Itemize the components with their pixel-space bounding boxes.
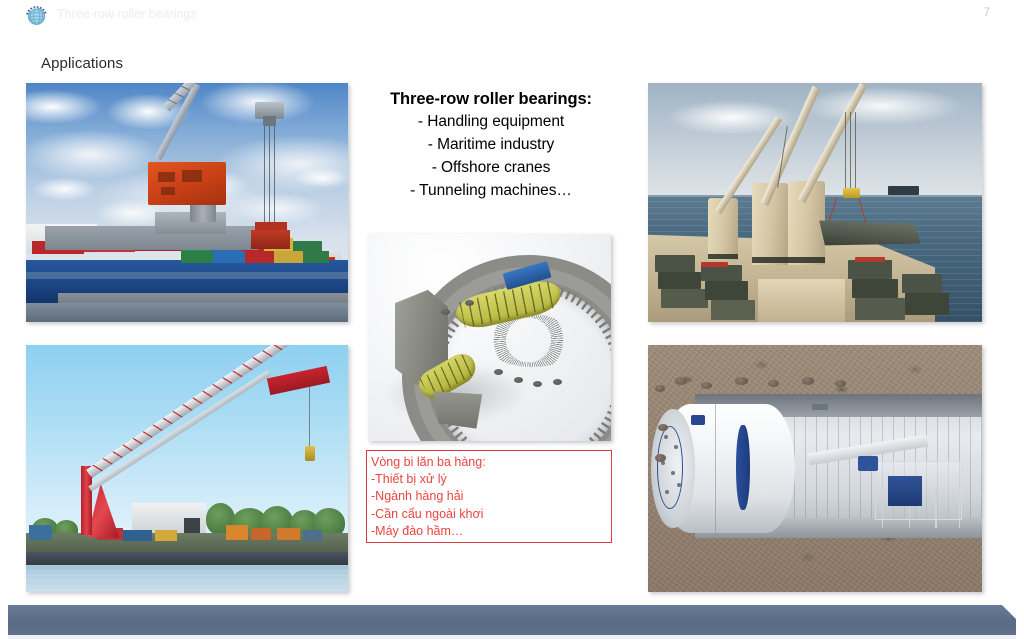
equipment-module xyxy=(888,476,921,506)
port-crane-artwork xyxy=(26,83,348,322)
blue-marker xyxy=(691,415,706,425)
crane-hook xyxy=(305,446,315,461)
tbm-render xyxy=(648,345,982,592)
deck-house xyxy=(758,279,845,322)
deck-container xyxy=(852,279,899,298)
hoist-wire xyxy=(850,112,851,188)
deck-container xyxy=(658,272,701,289)
translation-box: Vòng bi lăn ba hàng: -Thiết bị xử lý -Ng… xyxy=(366,450,612,543)
yard-equipment xyxy=(226,525,249,540)
hull-rail xyxy=(26,272,348,280)
bolt-hole xyxy=(553,379,562,385)
equipment-module xyxy=(858,456,878,471)
container xyxy=(181,251,213,263)
hoist-wire xyxy=(845,112,846,188)
translation-line-4: -Cần cẩu ngoài khơi xyxy=(371,506,611,523)
yard-equipment xyxy=(29,525,52,540)
deck-container xyxy=(848,260,891,279)
distant-ship xyxy=(888,186,918,196)
container xyxy=(245,251,274,263)
crane-hook xyxy=(843,188,860,198)
container xyxy=(213,251,245,263)
deck-container xyxy=(701,265,741,282)
floating-crane-artwork xyxy=(26,345,348,592)
lifted-container xyxy=(251,230,290,249)
bearing-cad-render xyxy=(368,234,611,441)
cutter-arc xyxy=(657,426,684,509)
bolt-hole xyxy=(441,309,450,315)
muck-pile xyxy=(655,454,666,462)
cutter-disc xyxy=(677,483,681,487)
deck-container xyxy=(705,281,748,300)
muck-pile xyxy=(675,377,687,385)
title-block: Three-row roller bearings: - Handling eq… xyxy=(366,88,616,202)
yard-equipment xyxy=(251,528,270,540)
hoist-cable xyxy=(309,387,310,451)
red-lashing xyxy=(855,257,885,262)
globe-icon xyxy=(24,3,49,28)
cutter-disc xyxy=(674,445,678,449)
muck-pile xyxy=(655,385,665,392)
water-ripples xyxy=(26,565,348,592)
blue-stripe xyxy=(736,425,749,510)
footer-shading xyxy=(8,624,1016,635)
port-crane-photo xyxy=(26,83,348,322)
offshore-vessel-artwork xyxy=(648,83,982,322)
title-bullet-1: - Handling equipment xyxy=(366,110,616,133)
muck-pile xyxy=(835,380,846,387)
bolt-hole xyxy=(494,369,503,375)
yard-equipment xyxy=(303,530,322,541)
deck-container xyxy=(902,274,942,293)
hoist-cable xyxy=(274,126,275,226)
floating-crane-photo xyxy=(26,345,348,592)
harbour-water xyxy=(26,303,348,322)
slew-ring xyxy=(752,257,789,263)
spreader-beam xyxy=(255,222,287,230)
ship-deck xyxy=(45,226,258,250)
cab-window xyxy=(161,187,175,195)
footer-title: Three-row roller bearings xyxy=(57,7,197,21)
translation-line-1: Vòng bi lăn ba hàng: xyxy=(371,454,611,471)
translation-line-5: -Máy đào hầm… xyxy=(371,523,611,540)
slide-canvas: Applications xyxy=(0,0,1024,639)
hoist-wire xyxy=(855,112,856,188)
yard-equipment xyxy=(123,530,152,541)
slew-ring xyxy=(708,254,738,258)
muck-pile xyxy=(658,424,668,431)
mounting-foot xyxy=(434,391,483,428)
tbm-artwork xyxy=(648,345,982,592)
deck-container xyxy=(655,255,695,272)
shield-seam xyxy=(715,404,717,532)
translation-line-2: -Thiết bị xử lý xyxy=(371,471,611,488)
gantry-leg xyxy=(882,488,884,528)
hoist-cable xyxy=(269,126,270,226)
cab-window xyxy=(182,170,202,181)
muck-pile xyxy=(802,377,814,385)
offshore-vessel-photo xyxy=(648,83,982,322)
muck-pile xyxy=(768,380,779,387)
container xyxy=(274,251,303,263)
slew-ring xyxy=(788,257,825,263)
yard-equipment xyxy=(277,528,300,540)
cab-window xyxy=(158,172,175,181)
title-bullet-4: - Tunneling machines… xyxy=(366,179,616,202)
deck-container xyxy=(661,289,708,308)
translation-line-3: -Ngành hàng hải xyxy=(371,488,611,505)
bolt-hole xyxy=(514,377,523,383)
gantry-leg xyxy=(935,488,937,528)
bearing-cad-artwork xyxy=(368,234,611,441)
footer-underline xyxy=(8,635,1016,639)
red-lashing xyxy=(701,262,728,267)
deck-container xyxy=(711,300,754,319)
tunnel-lamp xyxy=(812,404,829,410)
river-water xyxy=(26,565,348,592)
title-heading: Three-row roller bearings: xyxy=(366,88,616,110)
deck-container xyxy=(855,298,905,320)
muck-pile xyxy=(735,377,748,385)
title-bullet-2: - Maritime industry xyxy=(366,133,616,156)
hook-block xyxy=(263,116,276,126)
hoist-cable xyxy=(264,126,265,226)
container xyxy=(303,251,329,263)
title-bullet-3: - Offshore cranes xyxy=(366,156,616,179)
deck-container xyxy=(905,293,948,315)
page-title: Applications xyxy=(41,55,123,72)
footer-bar xyxy=(8,605,1016,635)
crane-cab xyxy=(148,162,225,205)
yard-equipment xyxy=(155,530,178,541)
gantry-leg xyxy=(959,488,961,528)
page-number: 7 xyxy=(984,7,990,19)
